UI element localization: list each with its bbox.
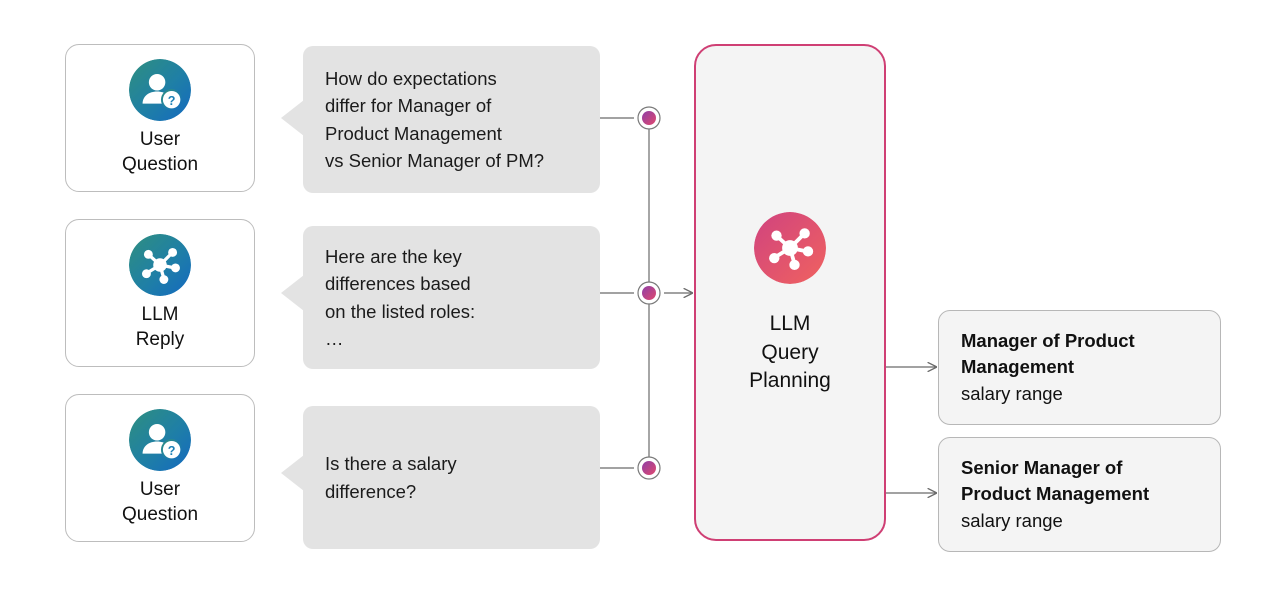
speech-bubble-text: Here are the key differences based on th…	[303, 243, 497, 352]
source-card-label: User Question	[122, 127, 198, 178]
bubble-tail	[281, 100, 304, 136]
llm-network-icon	[754, 212, 826, 284]
context-node-2	[638, 282, 660, 304]
llm-query-planning-label: LLM Query Planning	[696, 310, 884, 396]
output-card-subtitle: salary range	[961, 381, 1198, 407]
source-card-user-question-2[interactable]: ? User Question	[65, 394, 255, 542]
source-card-user-question-1[interactable]: ? User Question	[65, 44, 255, 192]
context-node-1	[638, 107, 660, 129]
user-question-icon: ?	[129, 409, 191, 471]
output-card-senior-manager[interactable]: Senior Manager of Product Management sal…	[938, 437, 1221, 552]
speech-bubble-reply[interactable]: Here are the key differences based on th…	[303, 226, 600, 369]
speech-bubble-question-1[interactable]: How do expectations differ for Manager o…	[303, 46, 600, 193]
output-card-title: Senior Manager of Product Management	[961, 455, 1198, 508]
bubble-tail	[281, 455, 304, 491]
source-card-label: LLM Reply	[136, 302, 185, 353]
svg-text:?: ?	[168, 444, 176, 458]
source-card-label: User Question	[122, 477, 198, 528]
speech-bubble-text: Is there a salary difference?	[303, 450, 479, 504]
llm-network-icon	[129, 234, 191, 296]
diagram-canvas: ? User Question LLM Reply	[0, 0, 1280, 598]
bubble-tail	[281, 275, 304, 311]
speech-bubble-text: How do expectations differ for Manager o…	[303, 65, 566, 174]
output-card-manager[interactable]: Manager of Product Management salary ran…	[938, 310, 1221, 425]
output-card-title: Manager of Product Management	[961, 328, 1198, 381]
user-question-icon: ?	[129, 59, 191, 121]
speech-bubble-question-2[interactable]: Is there a salary difference?	[303, 406, 600, 549]
source-card-llm-reply[interactable]: LLM Reply	[65, 219, 255, 367]
llm-query-planning-panel[interactable]: LLM Query Planning	[694, 44, 886, 541]
svg-text:?: ?	[168, 94, 176, 108]
output-card-subtitle: salary range	[961, 508, 1198, 534]
context-node-3	[638, 457, 660, 479]
